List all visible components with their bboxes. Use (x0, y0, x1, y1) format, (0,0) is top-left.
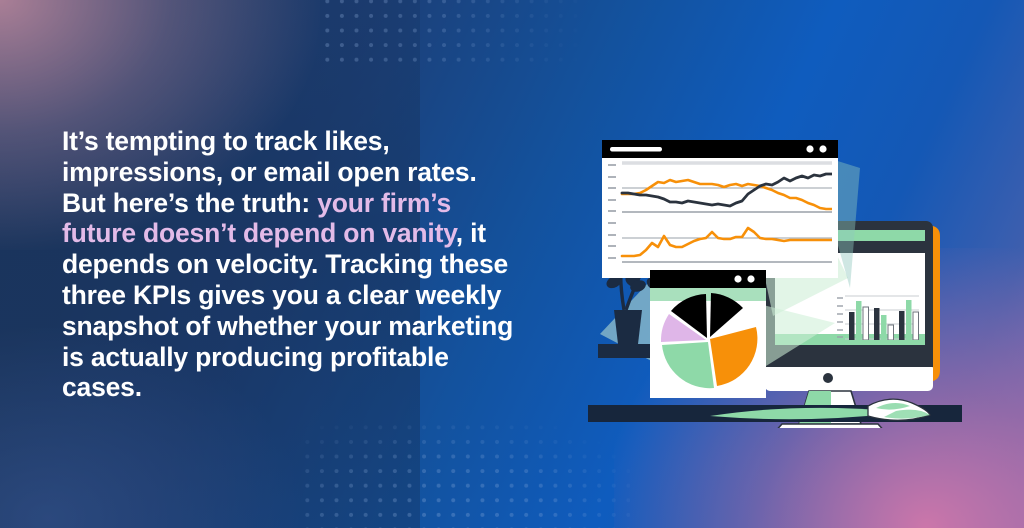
slide-canvas: It’s tempting to track likes, impression… (0, 0, 1024, 528)
computer-mouse (868, 399, 930, 420)
line-chart-window[interactable] (602, 140, 838, 278)
monitor-power-dot (823, 373, 833, 383)
window-dot-1 (734, 275, 741, 282)
titlebar-label-bar (610, 147, 662, 152)
pie-chart-window[interactable] (650, 270, 766, 398)
body-copy: It’s tempting to track likes, impression… (62, 126, 514, 403)
window-dot-1 (806, 145, 813, 152)
dot-pattern-bottom (300, 420, 630, 528)
analytics-desk-illustration (560, 118, 980, 428)
dot-pattern-top (320, 0, 620, 72)
window-dot-2 (819, 145, 826, 152)
window-dot-2 (747, 275, 754, 282)
